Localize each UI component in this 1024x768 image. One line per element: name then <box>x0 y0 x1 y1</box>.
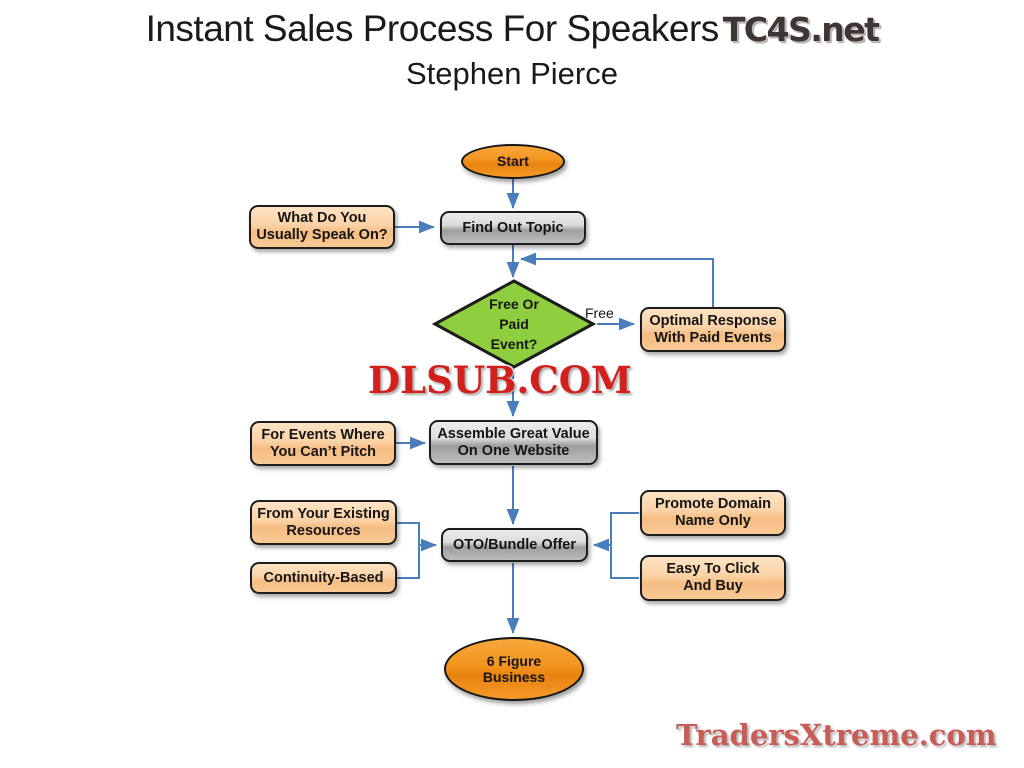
node-decision-line3: Event? <box>491 336 538 352</box>
node-optimal-label: Optimal Response With Paid Events <box>645 313 780 346</box>
node-what-do-you-usually-speak-on[interactable]: What Do You Usually Speak On? <box>249 205 395 249</box>
node-promote-line2: Name Only <box>675 513 751 529</box>
node-sixfigure-line1: 6 Figure <box>487 653 541 669</box>
node-oto-label: OTO/Bundle Offer <box>449 537 580 554</box>
node-decision-line1: Free Or <box>489 296 539 312</box>
node-assemble-line2: On One Website <box>458 443 570 459</box>
node-existing-label: From Your Existing Resources <box>253 506 393 539</box>
node-optimal-line1: Optimal Response <box>649 313 776 329</box>
node-free-or-paid-event-decision[interactable]: Free Or Paid Event? <box>432 279 596 369</box>
node-start-label: Start <box>493 153 533 169</box>
node-topic-label: Find Out Topic <box>458 220 567 237</box>
node-sixfigure-line2: Business <box>483 669 545 685</box>
node-optimal-response-with-paid-events[interactable]: Optimal Response With Paid Events <box>640 307 786 352</box>
node-sixfigure-label: 6 Figure Business <box>479 653 549 685</box>
node-continuity-based[interactable]: Continuity-Based <box>250 562 397 594</box>
node-for-events-where-you-cant-pitch[interactable]: For Events Where You Can’t Pitch <box>250 421 396 466</box>
watermark-tradersxtreme-text: TradersXtreme.com <box>676 718 996 752</box>
edge-label-free: Free <box>585 305 614 321</box>
edge-left-merge-rail <box>397 523 419 578</box>
node-promote-domain-name-only[interactable]: Promote Domain Name Only <box>640 490 786 536</box>
node-easybuy-line1: Easy To Click <box>666 561 759 577</box>
node-decision-line2: Paid <box>499 316 529 332</box>
node-assemble-great-value-on-one-website[interactable]: Assemble Great Value On One Website <box>429 420 598 465</box>
edge-right-merge-rail <box>611 513 639 578</box>
node-nopitch-line1: For Events Where <box>261 427 384 443</box>
node-speakon-line1: What Do You <box>278 210 367 226</box>
node-nopitch-line2: You Can’t Pitch <box>270 444 376 460</box>
node-optimal-line2: With Paid Events <box>654 330 772 346</box>
node-from-your-existing-resources[interactable]: From Your Existing Resources <box>250 500 397 545</box>
node-6-figure-business[interactable]: 6 Figure Business <box>444 637 584 701</box>
node-easybuy-label: Easy To Click And Buy <box>662 561 763 594</box>
node-existing-line2: Resources <box>286 523 360 539</box>
watermark-tradersxtreme: TradersXtreme.com <box>676 718 996 752</box>
node-find-out-topic[interactable]: Find Out Topic <box>440 211 586 245</box>
node-oto-bundle-offer[interactable]: OTO/Bundle Offer <box>441 528 588 562</box>
node-promote-label: Promote Domain Name Only <box>651 496 775 529</box>
watermark-dlsub: DLSUB.COM <box>368 358 632 402</box>
node-easy-to-click-and-buy[interactable]: Easy To Click And Buy <box>640 555 786 601</box>
node-start[interactable]: Start <box>461 144 565 179</box>
node-speakon-label: What Do You Usually Speak On? <box>252 210 391 243</box>
node-easybuy-line2: And Buy <box>683 578 743 594</box>
node-promote-line1: Promote Domain <box>655 496 771 512</box>
node-existing-line1: From Your Existing <box>257 506 389 522</box>
node-assemble-label: Assemble Great Value On One Website <box>433 426 593 459</box>
node-nopitch-label: For Events Where You Can’t Pitch <box>257 427 388 460</box>
node-decision-label: Free Or Paid Event? <box>485 294 543 355</box>
node-assemble-line1: Assemble Great Value <box>437 426 589 442</box>
node-speakon-line2: Usually Speak On? <box>256 227 387 243</box>
node-continuity-label: Continuity-Based <box>259 570 387 587</box>
watermark-dlsub-text: DLSUB.COM <box>368 358 632 402</box>
